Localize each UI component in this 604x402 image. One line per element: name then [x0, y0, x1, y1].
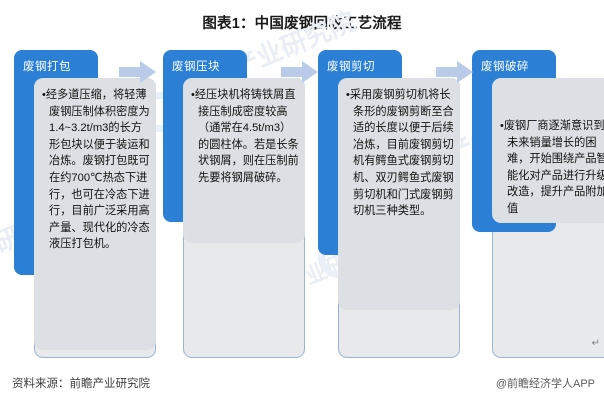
arrow-3-icon	[436, 60, 474, 84]
process-flow-diagram: 废钢打包 •经多道压缩，将轻薄废钢压制体积密度为1.4~3.2t/m3的长方形包…	[0, 0, 604, 402]
step-text-card: •经压块机将铸铁屑直接压制成密度较高（通常在4.5t/m3）的圆柱体。若是长条状…	[183, 78, 305, 243]
step-text-card: •经多道压缩，将轻薄废钢压制体积密度为1.4~3.2t/m3的长方形包块以便于装…	[34, 78, 156, 350]
step-header-label: 废钢打包	[23, 58, 71, 74]
arrow-2-icon	[281, 60, 319, 84]
step-description: •经多道压缩，将轻薄废钢压制体积密度为1.4~3.2t/m3的长方形包块以便于装…	[34, 78, 156, 261]
step-text-card: •废钢厂商逐渐意识到未来销量增长的困难，开始围绕产品智能化对产品进行升级改造，提…	[492, 78, 604, 223]
step-description: •经压块机将铸铁屑直接压制成密度较高（通常在4.5t/m3）的圆柱体。若是长条状…	[183, 78, 305, 195]
step-header-label: 废钢剪切	[327, 58, 375, 74]
arrow-1-icon	[119, 60, 157, 84]
step-text-card: •采用废钢剪切机将长条形的废钢剪断至合适的长度以便于后续冶炼，目前废钢剪切机有鳄…	[338, 78, 460, 310]
step-header-label: 废钢压块	[172, 58, 220, 74]
step-description: •废钢厂商逐渐意识到未来销量增长的困难，开始围绕产品智能化对产品进行升级改造，提…	[492, 78, 604, 226]
step-header-label: 废钢破碎	[481, 58, 529, 74]
paragraph-mark-icon: ↵	[592, 338, 600, 349]
step-description: •采用废钢剪切机将长条形的废钢剪断至合适的长度以便于后续冶炼，目前废钢剪切机有鳄…	[338, 78, 460, 228]
